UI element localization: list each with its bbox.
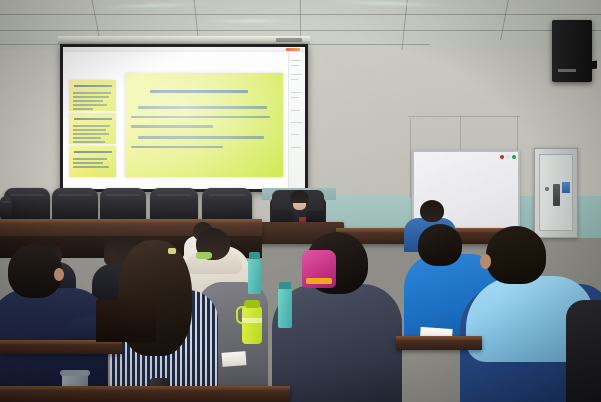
presenter-hair	[290, 190, 309, 203]
slide-body-line	[131, 146, 223, 149]
whiteboard-magnet-red	[500, 155, 504, 159]
grey-cup-lid	[60, 370, 90, 376]
empty-chair	[202, 188, 252, 222]
student-striped-top-hairclip	[168, 248, 176, 254]
student-light-blue-hoodie-head	[486, 226, 546, 284]
student-back-row-blue-head	[420, 200, 444, 222]
cabinet-handle	[545, 187, 549, 191]
aisle-shadow	[96, 300, 156, 342]
slide-thumbnail-panel	[69, 80, 116, 183]
student-right-edge-body	[566, 300, 601, 402]
projection-screen	[60, 44, 308, 192]
slide-body-line	[138, 136, 264, 139]
student-cream-hoodie-collar	[196, 252, 212, 259]
slide-thumbnail-3	[69, 146, 116, 177]
app-accent-badge	[286, 48, 300, 51]
projected-image	[63, 47, 305, 189]
speaker-brand-label	[558, 69, 576, 72]
front-desk-edge	[0, 219, 262, 223]
slide-body-line	[138, 106, 268, 109]
wall-speaker	[552, 20, 592, 82]
roller-brand-label	[276, 38, 302, 42]
empty-chair	[150, 188, 198, 222]
teal-thermos	[278, 288, 292, 328]
pink-backpack-strap	[306, 278, 332, 284]
teal-thermos	[248, 258, 261, 294]
student-light-blue-hoodie-ear	[480, 254, 491, 269]
student-royal-blue-head	[418, 224, 462, 266]
cabinet-door	[539, 154, 573, 231]
cabinet-vent-slot	[553, 184, 560, 206]
presentation-toolbar	[63, 47, 305, 52]
teal-thermos-cap	[249, 252, 260, 259]
presentation-side-pane	[288, 52, 305, 189]
green-water-bottle-band	[242, 318, 262, 323]
wall-panel-seam	[410, 118, 411, 198]
slide-thumbnail-1	[69, 80, 116, 111]
green-water-bottle-cap	[244, 300, 260, 308]
slide-thumbnail-2	[69, 113, 116, 144]
slide-title-text	[150, 90, 248, 93]
electrical-cabinet	[534, 148, 578, 238]
foreground-desk-edge	[0, 386, 290, 390]
whiteboard-magnet-white	[506, 155, 510, 159]
paper-notes	[222, 351, 247, 367]
teal-thermos-cap	[279, 282, 291, 289]
slide-body-line	[131, 116, 270, 119]
lecture-hall-photo	[0, 0, 601, 402]
current-slide	[125, 73, 283, 177]
empty-chair	[100, 188, 146, 222]
student-navy-hoodie-ear	[54, 268, 64, 281]
cabinet-warning-label	[562, 182, 570, 193]
whiteboard-magnet-green	[512, 155, 516, 159]
empty-chair	[52, 188, 98, 222]
mid-desk-right-edge	[396, 336, 482, 340]
slide-body-line	[131, 125, 213, 128]
wall-panel-seam	[408, 116, 520, 117]
